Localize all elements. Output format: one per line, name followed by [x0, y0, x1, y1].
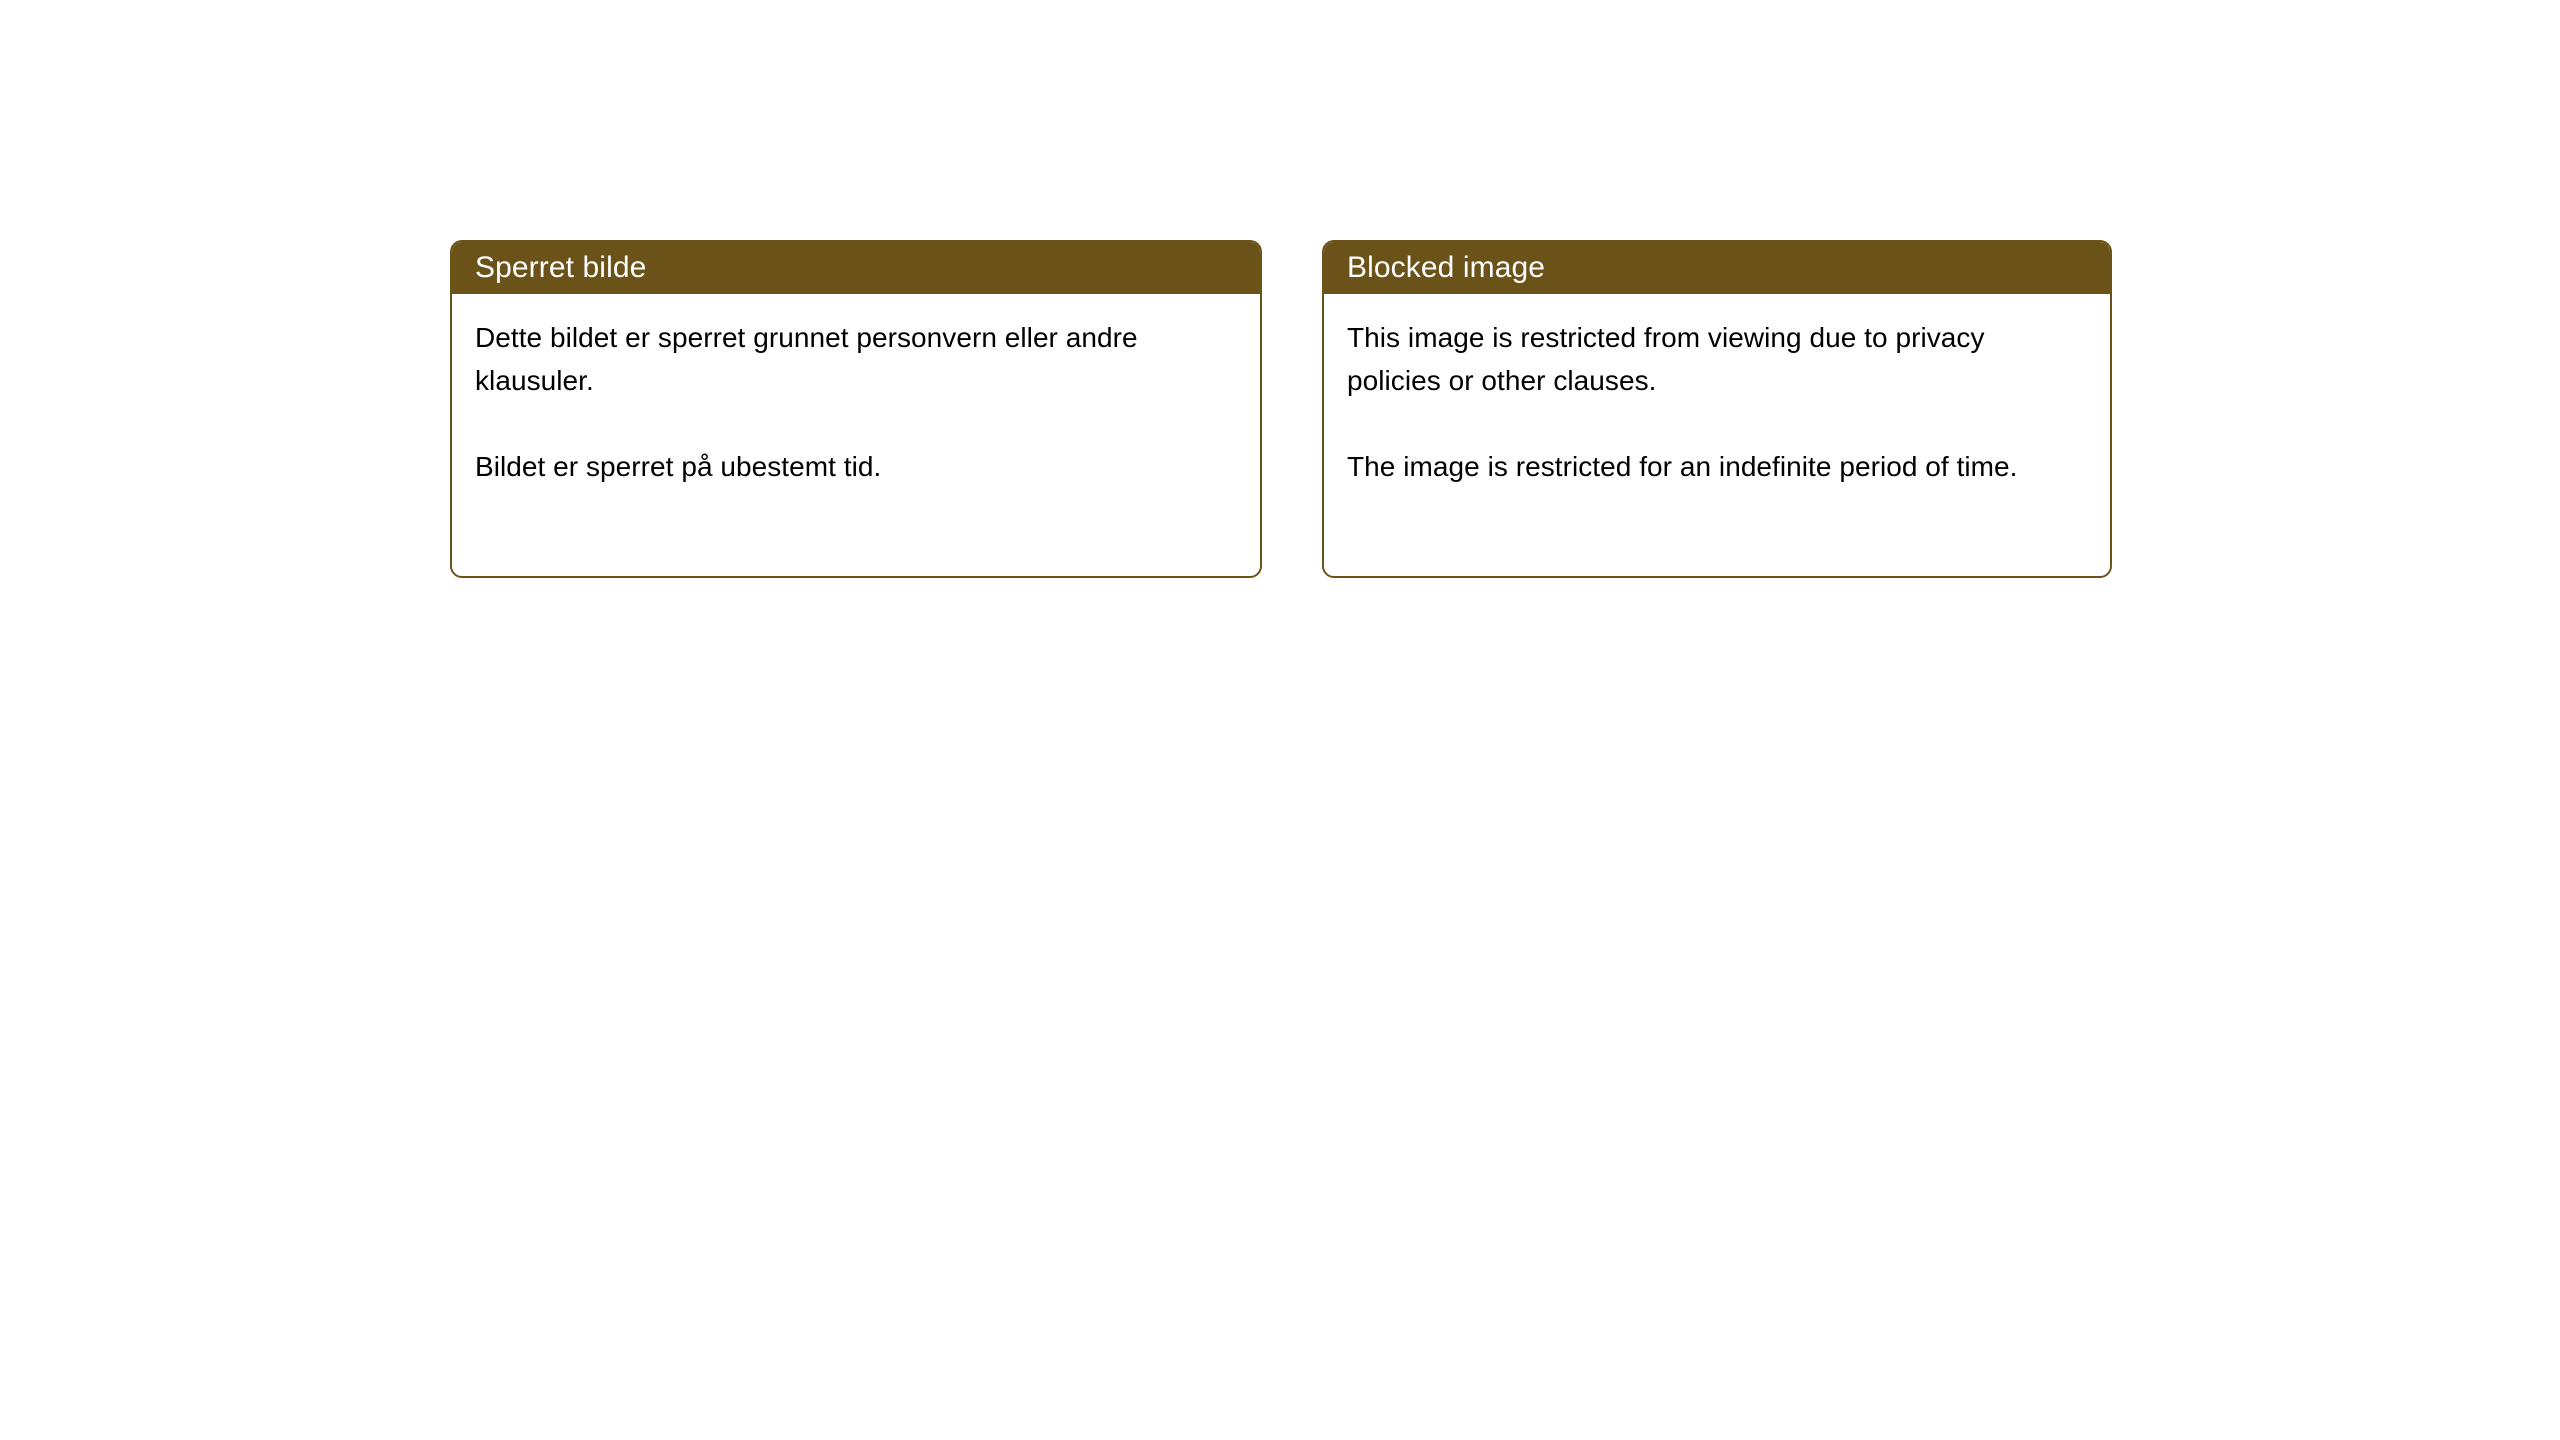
blocked-image-notice-card-english: Blocked image This image is restricted f…: [1322, 240, 2112, 578]
card-header-english: Blocked image: [1324, 242, 2110, 294]
card-title-norwegian: Sperret bilde: [475, 251, 646, 285]
page-canvas: Sperret bilde Dette bildet er sperret gr…: [0, 0, 2560, 1440]
card-paragraph-duration-norwegian: Bildet er sperret på ubestemt tid.: [475, 445, 1236, 488]
blocked-image-notice-card-norwegian: Sperret bilde Dette bildet er sperret gr…: [450, 240, 1262, 578]
card-title-english: Blocked image: [1347, 251, 1545, 285]
card-paragraph-duration-english: The image is restricted for an indefinit…: [1347, 445, 2086, 488]
card-header-norwegian: Sperret bilde: [452, 242, 1260, 294]
card-paragraph-reason-english: This image is restricted from viewing du…: [1347, 316, 2086, 402]
card-body-english: This image is restricted from viewing du…: [1324, 294, 2110, 488]
card-paragraph-reason-norwegian: Dette bildet er sperret grunnet personve…: [475, 316, 1236, 402]
card-body-norwegian: Dette bildet er sperret grunnet personve…: [452, 294, 1260, 488]
